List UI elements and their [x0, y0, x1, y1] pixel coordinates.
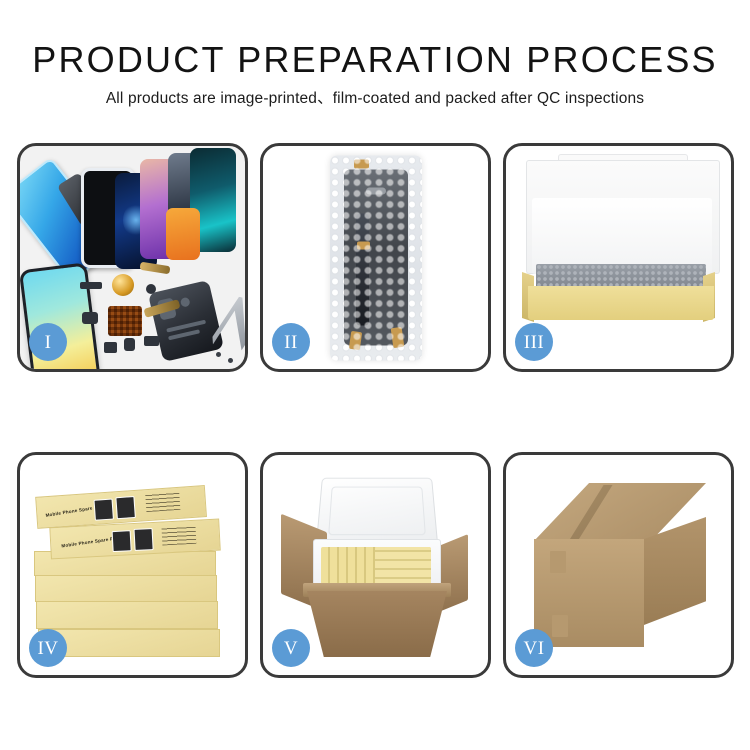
small-chip-part-4 [124, 338, 135, 351]
small-chip-part-1 [80, 282, 102, 289]
small-chip-part-5 [144, 336, 159, 346]
box-label-textlines-upper [145, 491, 180, 512]
step-panel-1: I [17, 143, 248, 372]
carton-tape-lower [552, 615, 568, 637]
step-badge-3: III [515, 323, 553, 361]
page-subtitle: All products are image-printed、film-coat… [0, 80, 750, 109]
carton-tape-upper [550, 551, 566, 573]
bubble-texture-overlay [330, 155, 422, 360]
box-label-textlines-lower [161, 525, 196, 546]
phone-back-housing [148, 280, 224, 362]
screw-part-2 [228, 358, 233, 363]
step-panel-5: V [260, 452, 491, 678]
page-title: PRODUCT PREPARATION PROCESS [0, 0, 750, 80]
connector-pad-part [108, 306, 142, 336]
header: PRODUCT PREPARATION PROCESS All products… [0, 0, 750, 109]
mailer-foam-sheet [532, 198, 712, 274]
product-preparation-infographic: PRODUCT PREPARATION PROCESS All products… [0, 0, 750, 750]
step-badge-2: II [272, 323, 310, 361]
step-panel-3: III [503, 143, 734, 372]
step-badge-1: I [29, 323, 67, 361]
box-label-screen-c [94, 499, 114, 521]
vibration-motor-part [112, 274, 134, 296]
stacked-box-bottom-3 [36, 601, 216, 627]
styrofoam-lid [316, 478, 438, 546]
carton-body [307, 591, 447, 657]
step-panel-4: Mobile Phone Spare Parts Mobile Phone Sp… [17, 452, 248, 678]
mailer-front-panel [528, 286, 714, 320]
bubble-wrap-package [330, 155, 422, 360]
step-badge-6: VI [515, 629, 553, 667]
box-label-screen-d [115, 496, 135, 519]
small-chip-part-6 [146, 284, 156, 294]
small-chip-part-3 [104, 342, 117, 353]
flex-cable-part-2 [140, 262, 171, 275]
box-label-screen-b [134, 528, 154, 551]
process-step-grid: I II [17, 143, 734, 678]
box-label-screen-a [112, 530, 132, 552]
step-panel-6: VI [503, 452, 734, 678]
step-badge-4: IV [29, 629, 67, 667]
orange-phone-screen [166, 208, 200, 260]
step-panel-2: II [260, 143, 491, 372]
screw-part-1 [216, 352, 221, 357]
small-chip-part-2 [82, 312, 98, 324]
box-stack: Mobile Phone Spare Parts Mobile Phone Sp… [34, 479, 234, 659]
step-badge-5: V [272, 629, 310, 667]
stacked-box-bottom-2 [35, 575, 215, 600]
